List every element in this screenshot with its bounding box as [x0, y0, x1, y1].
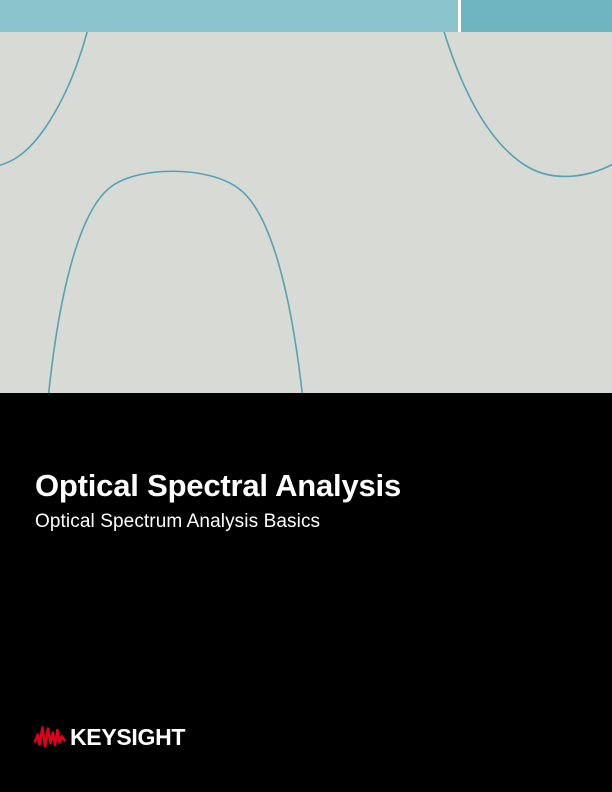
document-title: Optical Spectral Analysis: [35, 468, 575, 504]
center-peak-curve: [48, 171, 303, 393]
keysight-waveform-icon: [34, 725, 66, 749]
document-subtitle: Optical Spectrum Analysis Basics: [35, 510, 575, 533]
cover-artwork-panel: [0, 0, 612, 393]
title-block: Optical Spectral Analysis Optical Spectr…: [35, 468, 575, 533]
spectral-curves-graphic: [0, 0, 612, 393]
document-page: APPLICATION NOTE Optical Spectral Analys…: [0, 0, 612, 792]
application-note-tag-block: [461, 0, 612, 32]
keysight-logo: KEYSIGHT: [34, 724, 185, 750]
keysight-wordmark: KEYSIGHT: [70, 725, 185, 749]
header-band-divider: [458, 0, 461, 32]
